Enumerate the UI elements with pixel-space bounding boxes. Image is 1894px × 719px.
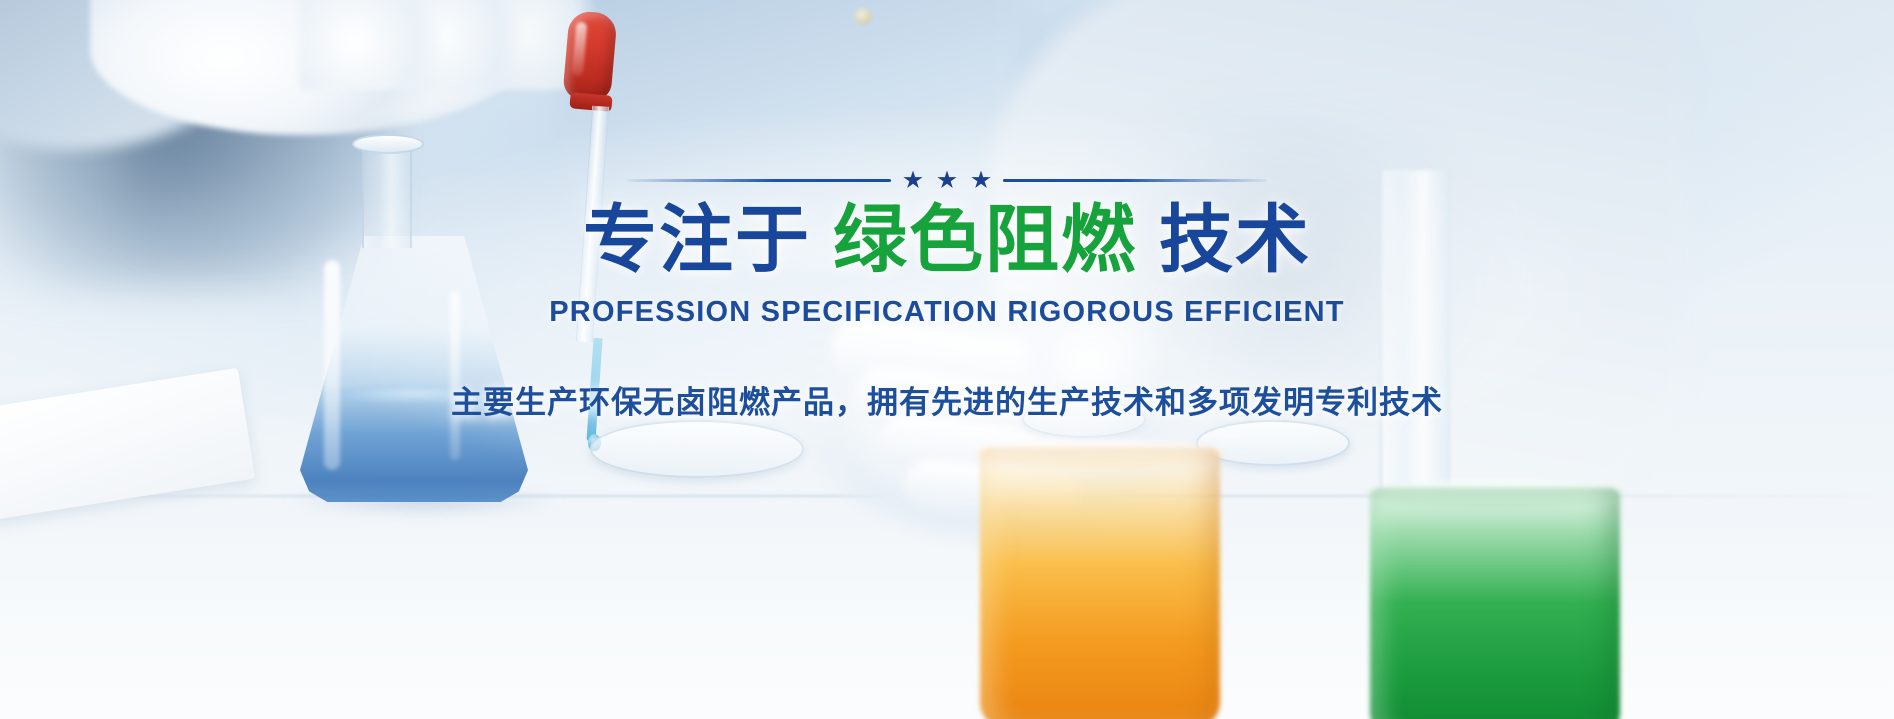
headline-part-2: 绿色阻燃: [833, 198, 1137, 281]
page-title: 专注于绿色阻燃技术: [583, 200, 1311, 280]
star-icon: [971, 171, 991, 190]
star-icon: [937, 171, 957, 190]
star-group: [903, 171, 991, 190]
star-icon: [903, 171, 923, 190]
banner-content: 专注于绿色阻燃技术 PROFESSION SPECIFICATION RIGOR…: [0, 0, 1894, 719]
decorative-divider: [627, 168, 1267, 192]
divider-line-right: [1003, 179, 1267, 182]
headline-part-3: 技术: [1159, 198, 1311, 281]
tagline-text: 主要生产环保无卤阻燃产品，拥有先进的生产技术和多项发明专利技术: [451, 377, 1443, 422]
divider-line-left: [627, 179, 891, 182]
hero-banner: 专注于绿色阻燃技术 PROFESSION SPECIFICATION RIGOR…: [0, 0, 1894, 719]
english-subtitle: PROFESSION SPECIFICATION RIGOROUS EFFICI…: [549, 296, 1344, 329]
headline-part-1: 专注于: [583, 198, 811, 281]
